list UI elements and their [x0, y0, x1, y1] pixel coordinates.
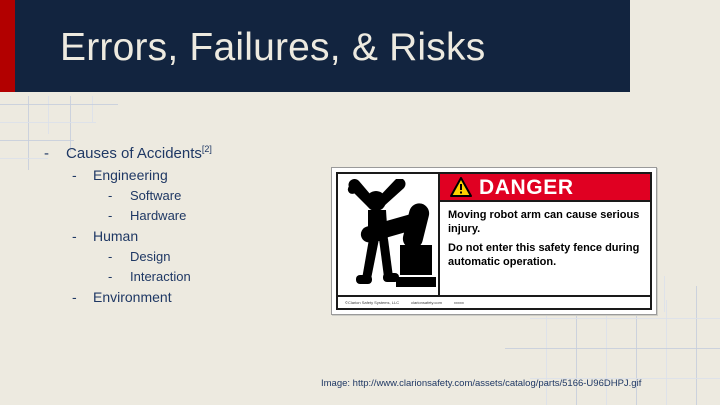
danger-sign: DANGER Moving robot arm can cause seriou… — [336, 172, 652, 310]
bullet-dash: - — [108, 209, 130, 222]
list-item-label: Design — [130, 250, 170, 263]
danger-sign-body: DANGER Moving robot arm can cause seriou… — [338, 174, 650, 295]
list-item: - Engineering — [72, 168, 314, 182]
list-item: - Software — [108, 189, 314, 202]
list-item-label: Interaction — [130, 270, 191, 283]
danger-message-line-2: Do not enter this safety fence during au… — [448, 241, 643, 269]
list-item: - Design — [108, 250, 314, 263]
bullet-dash: - — [108, 250, 130, 263]
bullet-dash: - — [44, 146, 66, 161]
list-item: - Causes of Accidents[2] — [44, 146, 314, 161]
source-caption: Image: http://www.clarionsafety.com/asse… — [321, 378, 641, 389]
list-item: - Interaction — [108, 270, 314, 283]
sign-footer-company: ©Clarion Safety Systems, LLC — [345, 300, 399, 305]
list-item-label: Causes of Accidents[2] — [66, 146, 212, 161]
sign-footer-part-number: xxxxx — [454, 300, 464, 305]
danger-sign-message-column: DANGER Moving robot arm can cause seriou… — [440, 174, 650, 295]
bullet-dash: - — [108, 270, 130, 283]
list-item: - Hardware — [108, 209, 314, 222]
list-item-label: Engineering — [93, 168, 168, 182]
sign-footer-website: clarionsafety.com — [411, 300, 442, 305]
bullet-dash: - — [108, 189, 130, 202]
title-banner: Errors, Failures, & Risks — [15, 0, 630, 92]
bullet-dash: - — [72, 290, 93, 304]
title-accent-bar — [0, 0, 15, 92]
list-item-label: Human — [93, 229, 138, 243]
list-item-label: Hardware — [130, 209, 186, 222]
warning-triangle-icon — [450, 177, 472, 197]
danger-sign-image: DANGER Moving robot arm can cause seriou… — [331, 167, 657, 315]
robot-arm-striking-person-icon — [338, 174, 440, 295]
outline-list: - Causes of Accidents[2] - Engineering -… — [44, 146, 314, 311]
danger-signal-band: DANGER — [440, 174, 650, 202]
danger-sign-footer: ©Clarion Safety Systems, LLC clarionsafe… — [338, 295, 650, 308]
slide: Errors, Failures, & Risks - Causes of Ac… — [0, 0, 720, 405]
list-item-label: Software — [130, 189, 181, 202]
danger-signal-word: DANGER — [479, 177, 574, 198]
list-item: - Environment — [72, 290, 314, 304]
bullet-dash: - — [72, 229, 93, 243]
reference-marker: [2] — [202, 144, 212, 154]
page-title: Errors, Failures, & Risks — [60, 26, 485, 70]
list-item: - Human — [72, 229, 314, 243]
danger-sign-message: Moving robot arm can cause serious injur… — [440, 202, 650, 295]
danger-message-line-1: Moving robot arm can cause serious injur… — [448, 208, 643, 236]
bullet-dash: - — [72, 168, 93, 182]
list-item-label: Environment — [93, 290, 172, 304]
